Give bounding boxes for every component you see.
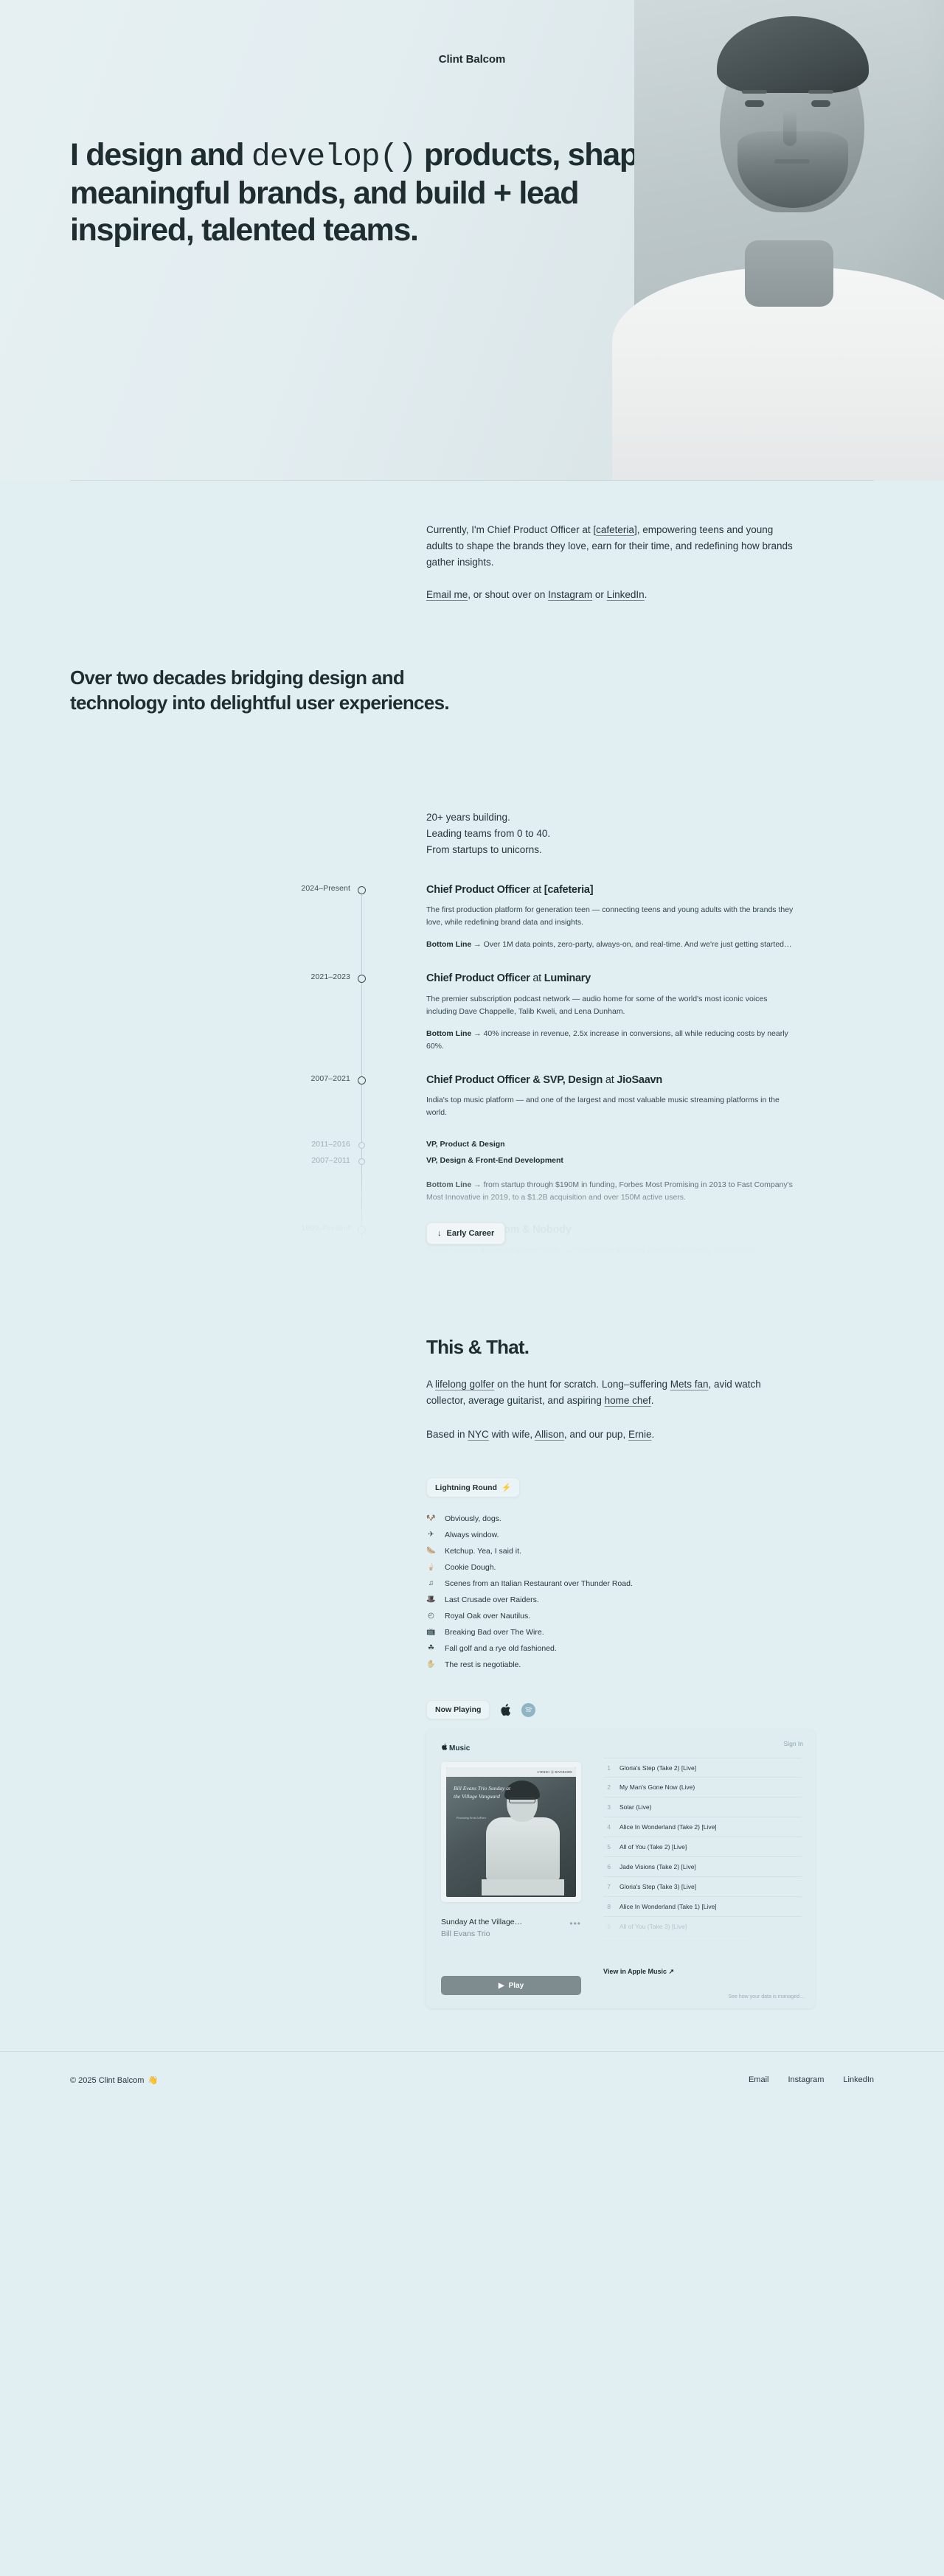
arrow-down-icon: ↓: [437, 1229, 442, 1238]
timeline-entry-title: Chief Product Officer at [cafeteria]: [426, 883, 944, 898]
track-title: Jade Visions (Take 2) [Live]: [619, 1863, 696, 1870]
ice-cream-icon: 🍦: [426, 1564, 436, 1571]
track-number: 8: [603, 1903, 611, 1910]
intro-paragraph-contact: Email me, or shout over on Instagram or …: [426, 587, 795, 603]
timeline-lede-line-1: 20+ years building.: [426, 810, 944, 826]
tracklist: 1Gloria's Step (Take 2) [Live] 2My Man's…: [603, 1758, 802, 1937]
play-triangle-icon: ▶: [499, 1982, 504, 1990]
music-note-icon: ♫: [426, 1580, 436, 1587]
portrait-eye-left: [745, 100, 764, 107]
track-title: My Man's Gone Now (Live): [619, 1783, 695, 1791]
timeline-entry: 2024–Present Chief Product Officer at [c…: [0, 883, 944, 952]
sign-in-link[interactable]: Sign In: [784, 1740, 803, 1747]
footer-link-email[interactable]: Email: [749, 2075, 769, 2084]
timeline-entry-date: 2024–Present: [243, 884, 350, 893]
list-item-text: Ketchup. Yea, I said it.: [445, 1547, 521, 1556]
timeline-entry-bottomline-row: Bottom Line → from startup through $190M…: [0, 1179, 944, 1204]
timeline-role: Chief Product Officer: [426, 884, 530, 896]
track-title: All of You (Take 2) [Live]: [619, 1843, 687, 1851]
experience-heading: Over two decades bridging design and tec…: [0, 666, 457, 715]
intro-section: Currently, I'm Chief Product Officer at …: [0, 481, 944, 602]
intro-text-a: Currently, I'm Chief Product Officer at …: [426, 524, 596, 535]
spotify-logo-icon[interactable]: [521, 1703, 535, 1717]
track-number: 2: [603, 1783, 611, 1791]
timeline-role: Chief Product Officer & SVP, Design: [426, 1074, 603, 1086]
portrait-brow-right: [808, 90, 833, 94]
link-allison[interactable]: Allison: [535, 1429, 564, 1440]
lightning-bolt-icon: ⚡: [502, 1483, 511, 1492]
timeline-subrole-dot-icon: [358, 1142, 365, 1149]
tt-p1-d: .: [651, 1395, 654, 1406]
portrait-brow-left: [742, 90, 767, 94]
timeline-entry-bottomline: Bottom Line → Over 1M data points, zero-…: [426, 939, 802, 951]
bottom-line-label: Bottom Line: [426, 1180, 471, 1189]
list-item-text: Last Crusade over Raiders.: [445, 1595, 539, 1604]
player-brand-label: Music: [449, 1744, 470, 1752]
early-career-label: Early Career: [447, 1229, 495, 1238]
timeline-entry-date: 1999–Present: [243, 1224, 350, 1233]
bottom-line-text: → Over 1M data points, zero-party, alway…: [471, 940, 791, 949]
player-left-column: Music STEREO Ⓢ RIVERSIDE: [426, 1730, 596, 2008]
timeline-subrole-dot-icon: [358, 1158, 365, 1165]
timeline-rows: 2024–Present Chief Product Officer at [c…: [0, 883, 944, 1270]
track-title: Gloria's Step (Take 3) [Live]: [619, 1883, 696, 1890]
timeline-entry-date: 2007–2021: [243, 1074, 350, 1083]
footer-copyright: © 2025 Clint Balcom 👋: [70, 2075, 158, 2085]
timeline-entry-bottomline: Bottom Line → from startup through $190M…: [426, 1179, 802, 1204]
timeline-entry: 2021–2023 Chief Product Officer at Lumin…: [0, 972, 944, 1053]
link-email-me[interactable]: Email me: [426, 589, 468, 600]
track-number: 4: [603, 1823, 611, 1831]
portrait-hair: [717, 16, 869, 93]
timeline-entry-desc: India's top music platform — and one of …: [426, 1094, 795, 1119]
list-item: 📺Breaking Bad over The Wire.: [426, 1626, 944, 1638]
list-item: 🍦Cookie Dough.: [426, 1561, 944, 1573]
lightning-round-block: Lightning Round ⚡ 🐶Obviously, dogs. ✈Alw…: [426, 1477, 944, 1671]
list-item: 🌭Ketchup. Yea, I said it.: [426, 1545, 944, 1557]
track-title: Alice In Wonderland (Take 2) [Live]: [619, 1823, 717, 1831]
apple-logo-icon[interactable]: [499, 1703, 512, 1717]
timeline-subrole-date: 2011–2016: [243, 1140, 350, 1149]
timeline-section: 20+ years building. Leading teams from 0…: [0, 810, 944, 1270]
page-footer: © 2025 Clint Balcom 👋 Email Instagram Li…: [0, 2051, 944, 2142]
timeline-entry-desc: The first production platform for genera…: [426, 904, 795, 929]
this-and-that-section: This & That. A lifelong golfer on the hu…: [0, 1336, 944, 2009]
waving-hand-icon: 👋: [147, 2075, 158, 2085]
track-title: All of You (Take 3) [Live]: [619, 1923, 687, 1930]
golf-icon: ☘: [426, 1645, 436, 1652]
lightning-round-label: Lightning Round: [435, 1483, 497, 1492]
timeline-company: JioSaavn: [617, 1074, 662, 1086]
link-ernie[interactable]: Ernie: [628, 1429, 652, 1440]
hero-section: Clint Balcom I design and develop() prod…: [0, 0, 944, 481]
tt-p2-c: , and our pup,: [564, 1429, 628, 1440]
list-item-text: The rest is negotiable.: [445, 1660, 521, 1669]
album-cover-desk: [482, 1879, 564, 1896]
hero-headline: I design and develop() products, shape m…: [70, 137, 660, 249]
headline-mono-develop: develop(): [251, 139, 416, 175]
link-lifelong-golfer[interactable]: lifelong golfer: [435, 1379, 494, 1390]
list-item: ✋The rest is negotiable.: [426, 1658, 944, 1671]
bottom-line-label: Bottom Line: [426, 940, 471, 949]
airplane-icon: ✈: [426, 1531, 436, 1539]
timeline-entry-date: 2021–2023: [243, 972, 350, 981]
list-item-text: Always window.: [445, 1531, 499, 1539]
link-home-chef[interactable]: home chef: [605, 1395, 651, 1406]
track-row[interactable]: 9All of You (Take 3) [Live]: [603, 1917, 802, 1937]
now-playing-label: Now Playing: [435, 1705, 481, 1714]
watch-icon: ◴: [426, 1612, 436, 1620]
play-button[interactable]: ▶ Play: [441, 1976, 581, 1995]
timeline-dot-icon: [358, 1226, 366, 1234]
more-options-icon[interactable]: •••: [569, 1918, 581, 1929]
dog-face-icon: 🐶: [426, 1515, 436, 1522]
timeline-at: at: [603, 1074, 617, 1086]
view-in-apple-music-link[interactable]: View in Apple Music ↗: [603, 1968, 674, 1976]
list-item-text: Cookie Dough.: [445, 1563, 496, 1572]
timeline-company: [cafeteria]: [544, 884, 594, 896]
track-row[interactable]: 5All of You (Take 2) [Live]: [603, 1837, 802, 1857]
this-and-that-title: This & That.: [426, 1336, 944, 1359]
this-and-that-paragraph-1: A lifelong golfer on the hunt for scratc…: [426, 1376, 795, 1409]
timeline-at: at: [530, 884, 544, 896]
album-cover-title: Bill Evans Trio Sunday at the Village Va…: [454, 1785, 516, 1800]
hand-icon: ✋: [426, 1661, 436, 1668]
track-title: Gloria's Step (Take 2) [Live]: [619, 1764, 696, 1772]
timeline-dot-icon: [358, 975, 366, 983]
list-item: ◴Royal Oak over Nautilus.: [426, 1609, 944, 1622]
timeline-entry-title: Chief Product Officer & SVP, Design at J…: [426, 1073, 944, 1088]
track-title: Solar (Live): [619, 1803, 651, 1811]
view-link-label: View in Apple Music: [603, 1968, 667, 1975]
hero-divider: [70, 480, 874, 481]
track-row[interactable]: 4Alice In Wonderland (Take 2) [Live]: [603, 1817, 802, 1837]
track-row[interactable]: 3Solar (Live): [603, 1797, 802, 1817]
intro-text-c: , or shout over on: [468, 589, 548, 600]
this-and-that-paragraph-2: Based in NYC with wife, Allison, and our…: [426, 1427, 795, 1443]
timeline-entry: 2007–2021 Chief Product Officer & SVP, D…: [0, 1073, 944, 1120]
hat-icon: 🎩: [426, 1596, 436, 1604]
data-privacy-note: See how your data is managed…: [728, 1994, 805, 1999]
album-cover-image: STEREO Ⓢ RIVERSIDE Bill Evans Trio Sunda…: [446, 1767, 576, 1897]
timeline-role: Chief Product Officer: [426, 972, 530, 984]
track-number: 6: [603, 1863, 611, 1870]
headline-part-1: I design and: [70, 137, 251, 173]
timeline-entry-title: Chief Product Officer at Luminary: [426, 972, 944, 986]
link-instagram[interactable]: Instagram: [548, 589, 592, 600]
link-linkedin[interactable]: LinkedIn: [607, 589, 645, 600]
timeline-company: Luminary: [544, 972, 591, 984]
player-track-info: Sunday At the Village… Bill Evans Trio •…: [441, 1917, 581, 1940]
early-career-button[interactable]: ↓ Early Career: [426, 1222, 505, 1245]
track-number: 3: [603, 1803, 611, 1811]
track-row[interactable]: 7Gloria's Step (Take 3) [Live]: [603, 1877, 802, 1897]
timeline-subrole-title: VP, Product & Design: [426, 1140, 944, 1149]
footer-link-linkedin[interactable]: LinkedIn: [843, 2075, 874, 2084]
bottom-line-label: Bottom Line: [426, 1029, 471, 1038]
list-item: ♫Scenes from an Italian Restaurant over …: [426, 1577, 944, 1590]
portrait-eye-right: [811, 100, 830, 107]
timeline-entry-bottomline: Bottom Line → 40% increase in revenue, 2…: [426, 1028, 802, 1053]
tt-p2-b: with wife,: [489, 1429, 535, 1440]
album-cover-banner: STEREO Ⓢ RIVERSIDE: [446, 1767, 576, 1777]
album-cover-body: [486, 1817, 560, 1881]
timeline-at: at: [530, 972, 544, 984]
track-row[interactable]: 1Gloria's Step (Take 2) [Live]: [603, 1758, 802, 1778]
list-item: 🐶Obviously, dogs.: [426, 1512, 944, 1525]
list-item-text: Scenes from an Italian Restaurant over T…: [445, 1579, 633, 1588]
timeline-lede-line-2: Leading teams from 0 to 40.: [426, 826, 944, 842]
footer-copyright-text: © 2025 Clint Balcom: [70, 2076, 144, 2085]
tt-p1-a: A: [426, 1379, 435, 1390]
player-track-meta: Sunday At the Village… Bill Evans Trio: [441, 1917, 522, 1940]
music-player-card[interactable]: Music STEREO Ⓢ RIVERSIDE: [426, 1730, 815, 2008]
timeline-lede: 20+ years building. Leading teams from 0…: [0, 810, 944, 858]
intro-paragraph-current: Currently, I'm Chief Product Officer at …: [426, 522, 795, 571]
album-artwork: STEREO Ⓢ RIVERSIDE Bill Evans Trio Sunda…: [441, 1762, 581, 1902]
lightning-round-pill: Lightning Round ⚡: [426, 1477, 520, 1497]
link-nyc[interactable]: NYC: [468, 1429, 489, 1440]
timeline-subrole: 2007–2011 VP, Design & Front-End Develop…: [0, 1156, 944, 1169]
timeline-dot-icon: [358, 1076, 366, 1085]
portfolio-page: Clint Balcom I design and develop() prod…: [0, 0, 944, 2142]
timeline-subrole: 2011–2016 VP, Product & Design: [0, 1140, 944, 1152]
portrait-photo: [634, 0, 944, 481]
list-item: ☘Fall golf and a rye old fashioned.: [426, 1642, 944, 1654]
album-title: Sunday At the Village…: [441, 1917, 522, 1929]
intro-text-e: .: [645, 589, 648, 600]
hot-dog-icon: 🌭: [426, 1548, 436, 1555]
album-artist: Bill Evans Trio: [441, 1929, 522, 1940]
arrow-up-right-icon: ↗: [669, 1968, 675, 1975]
now-playing-header: Now Playing: [426, 1700, 944, 1719]
television-icon: 📺: [426, 1629, 436, 1636]
footer-link-instagram[interactable]: Instagram: [788, 2075, 824, 2084]
portrait-mouth: [774, 159, 810, 164]
album-cover-subtitle: Featuring Scott LaFaro: [457, 1816, 486, 1820]
player-brand: Music: [441, 1743, 581, 1753]
list-item: 🎩Last Crusade over Raiders.: [426, 1593, 944, 1606]
now-playing-pill: Now Playing: [426, 1700, 490, 1719]
list-item: ✈Always window.: [426, 1528, 944, 1541]
player-tracklist-column: Sign In 1Gloria's Step (Take 2) [Live] 2…: [596, 1730, 815, 2008]
intro-text-d: or: [592, 589, 607, 600]
track-row[interactable]: 8Alice In Wonderland (Take 1) [Live]: [603, 1897, 802, 1917]
list-item-text: Obviously, dogs.: [445, 1514, 502, 1523]
bottom-line-text: → from startup through $190M in funding,…: [426, 1180, 793, 1202]
apple-logo-icon: [441, 1743, 448, 1753]
footer-links: Email Instagram LinkedIn: [749, 2075, 874, 2084]
timeline-entry-desc: Product design and development studio — …: [426, 1245, 795, 1270]
track-number: 9: [603, 1923, 611, 1930]
list-item-text: Fall golf and a rye old fashioned.: [445, 1644, 557, 1653]
track-number: 7: [603, 1883, 611, 1890]
track-number: 1: [603, 1764, 611, 1772]
track-row[interactable]: 2My Man's Gone Now (Live): [603, 1778, 802, 1797]
now-playing-block: Now Playing: [426, 1700, 944, 2008]
timeline-subrole-date: 2007–2011: [243, 1156, 350, 1165]
timeline-entry-desc: The premier subscription podcast network…: [426, 993, 795, 1018]
track-title: Alice In Wonderland (Take 1) [Live]: [619, 1903, 717, 1910]
tt-p2-a: Based in: [426, 1429, 468, 1440]
track-row[interactable]: 6Jade Visions (Take 2) [Live]: [603, 1857, 802, 1877]
timeline-lede-line-3: From startups to unicorns.: [426, 842, 944, 858]
list-item-text: Royal Oak over Nautilus.: [445, 1612, 530, 1621]
timeline-dot-icon: [358, 886, 366, 894]
link-mets-fan[interactable]: Mets fan: [670, 1379, 709, 1390]
timeline-subrole-title: VP, Design & Front-End Development: [426, 1156, 944, 1165]
list-item-text: Breaking Bad over The Wire.: [445, 1628, 544, 1637]
play-button-label: Play: [509, 1982, 524, 1990]
bottom-line-text: → 40% increase in revenue, 2.5x increase…: [426, 1029, 788, 1051]
link-cafeteria[interactable]: cafeteria: [596, 524, 634, 535]
tt-p2-d: .: [651, 1429, 654, 1440]
tt-p1-b: on the hunt for scratch. Long–suffering: [494, 1379, 670, 1390]
track-number: 5: [603, 1843, 611, 1851]
portrait-neck: [745, 240, 833, 307]
lightning-round-list: 🐶Obviously, dogs. ✈Always window. 🌭Ketch…: [426, 1512, 944, 1671]
